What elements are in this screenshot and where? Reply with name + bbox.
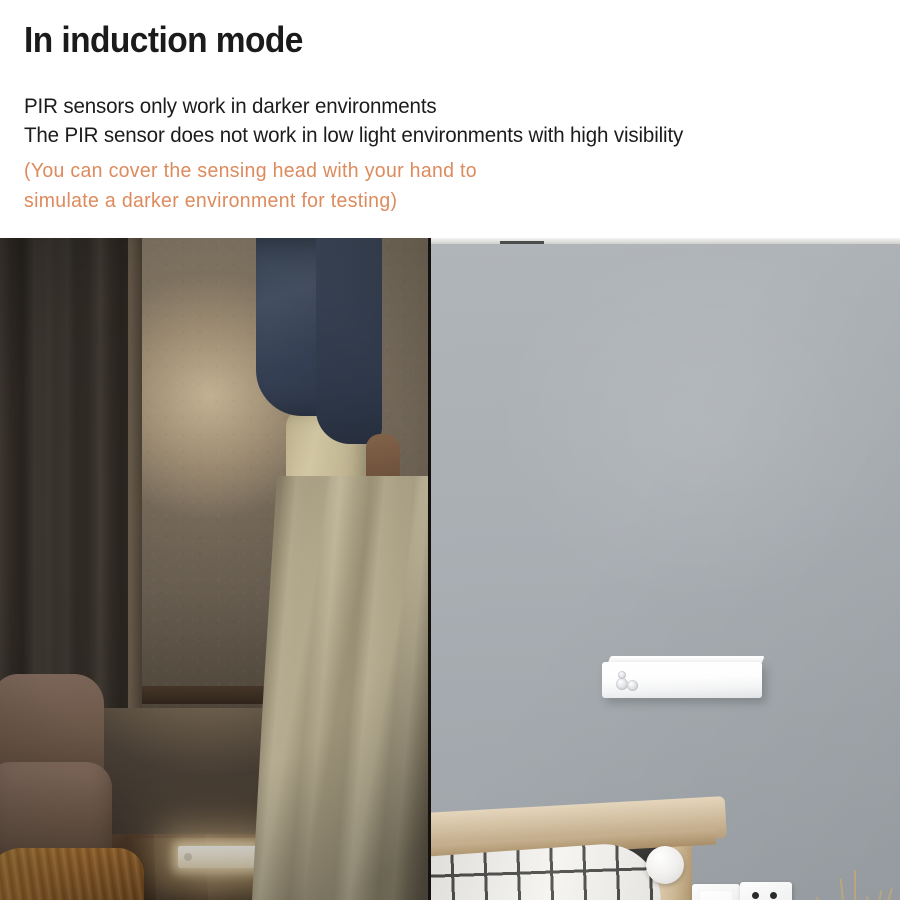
photo-divider xyxy=(428,238,431,900)
dried-flowers xyxy=(786,876,900,900)
flower-stem xyxy=(860,888,892,900)
pillow-pompom xyxy=(646,846,684,884)
socket-hole-2 xyxy=(770,892,777,899)
header-text-block: In induction mode PIR sensors only work … xyxy=(0,0,900,238)
flower-stem xyxy=(858,890,882,900)
comparison-photo-strip: PIR sensors only sense in darker environ… xyxy=(0,238,900,900)
description-line-1: PIR sensors only work in darker environm… xyxy=(24,92,845,121)
flower-stem xyxy=(856,896,868,900)
person-shirt-sleeve xyxy=(316,238,382,444)
note-line-2: simulate a darker environment for testin… xyxy=(24,186,841,216)
led-light-bar-on xyxy=(178,846,258,868)
switch-rocker-icon[interactable] xyxy=(699,890,733,900)
led-light-bar-off xyxy=(602,656,764,700)
description-line-2: The PIR sensor does not work in low ligh… xyxy=(24,121,845,150)
flower-stem xyxy=(840,879,854,900)
photo-right-bright-room: In low light environments, visibility is… xyxy=(430,238,900,900)
note-line-1: (You can cover the sensing head with you… xyxy=(24,156,841,186)
description-block: PIR sensors only work in darker environm… xyxy=(24,92,884,216)
golden-dog xyxy=(0,848,144,900)
wall-switch[interactable] xyxy=(692,884,740,900)
cream-curtain xyxy=(252,476,430,900)
ceiling-seam xyxy=(500,241,544,244)
photo-left-dim-room: PIR sensors only sense in darker environ… xyxy=(0,238,430,900)
pir-sensor-dot-3 xyxy=(618,671,626,679)
pir-sensor-dot-2 xyxy=(627,680,638,691)
flower-stem xyxy=(854,870,856,900)
dark-curtain xyxy=(0,238,128,708)
page-title: In induction mode xyxy=(24,18,303,62)
product-infographic-page: In induction mode PIR sensors only work … xyxy=(0,0,900,900)
pir-sensor-icon xyxy=(184,853,192,861)
socket-hole-1 xyxy=(752,892,759,899)
power-socket xyxy=(740,882,792,900)
